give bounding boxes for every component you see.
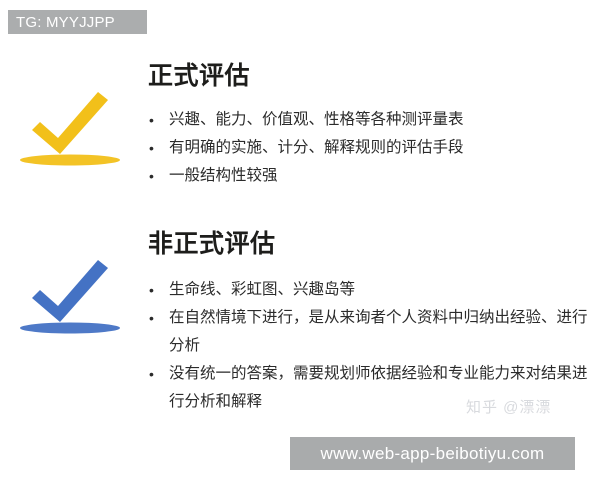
bullet-dot-icon: • bbox=[149, 134, 154, 162]
section-formal-heading: 正式评估 bbox=[148, 60, 588, 92]
section-informal-bullet-list: • 生命线、彩虹图、兴趣岛等 • 在自然情境下进行，是从来询者个人资料中归纳出经… bbox=[148, 276, 588, 416]
zhihu-watermark-label: 知乎 @漂漂 bbox=[466, 396, 551, 417]
section-informal-body: 非正式评估 • 生命线、彩虹图、兴趣岛等 • 在自然情境下进行，是从来询者个人资… bbox=[148, 228, 588, 416]
bullet-dot-icon: • bbox=[149, 276, 154, 304]
list-item-text: 有明确的实施、计分、解释规则的评估手段 bbox=[169, 134, 588, 162]
section-formal-body: 正式评估 • 兴趣、能力、价值观、性格等各种测评量表 • 有明确的实施、计分、解… bbox=[148, 60, 588, 190]
url-watermark-label: www.web-app-beibotiyu.com bbox=[321, 444, 545, 464]
list-item: • 一般结构性较强 bbox=[148, 162, 588, 190]
section-informal-heading: 非正式评估 bbox=[148, 228, 588, 260]
bullet-dot-icon: • bbox=[149, 162, 154, 190]
list-item-text: 兴趣、能力、价值观、性格等各种测评量表 bbox=[169, 106, 588, 134]
list-item: • 在自然情境下进行，是从来询者个人资料中归纳出经验、进行分析 bbox=[148, 304, 588, 360]
tg-watermark-label: TG: MYYJJPP bbox=[16, 14, 115, 31]
bullet-dot-icon: • bbox=[149, 106, 154, 134]
url-watermark-banner: www.web-app-beibotiyu.com bbox=[290, 437, 575, 470]
check-mark-blue-icon bbox=[14, 246, 126, 342]
section-formal-bullet-list: • 兴趣、能力、价值观、性格等各种测评量表 • 有明确的实施、计分、解释规则的评… bbox=[148, 106, 588, 190]
bullet-dot-icon: • bbox=[149, 304, 154, 332]
list-item-text: 在自然情境下进行，是从来询者个人资料中归纳出经验、进行分析 bbox=[169, 304, 588, 360]
bullet-dot-icon: • bbox=[149, 360, 154, 388]
list-item: • 兴趣、能力、价值观、性格等各种测评量表 bbox=[148, 106, 588, 134]
list-item: • 有明确的实施、计分、解释规则的评估手段 bbox=[148, 134, 588, 162]
list-item-text: 生命线、彩虹图、兴趣岛等 bbox=[169, 276, 588, 304]
list-item: • 生命线、彩虹图、兴趣岛等 bbox=[148, 276, 588, 304]
check-mark-yellow-icon bbox=[14, 78, 126, 174]
tg-watermark-badge: TG: MYYJJPP bbox=[8, 10, 147, 34]
list-item-text: 一般结构性较强 bbox=[169, 162, 588, 190]
